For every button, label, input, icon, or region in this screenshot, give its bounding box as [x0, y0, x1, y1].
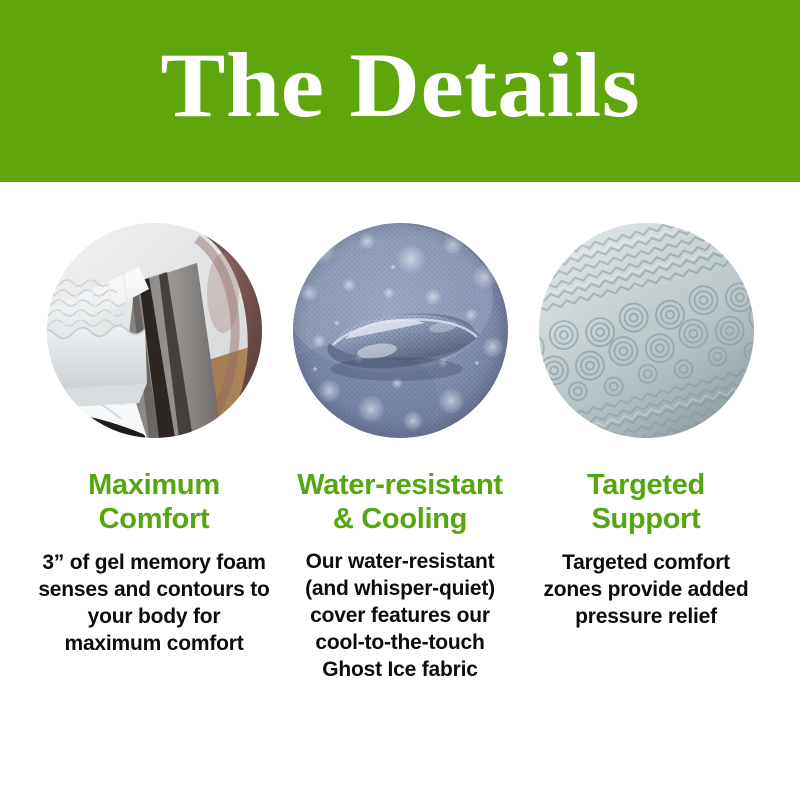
feature-heading-line-2: Support	[591, 503, 700, 535]
feature-heading: Maximum Comfort	[88, 469, 220, 536]
feature-body-text: Targeted comfort zones provide added pre…	[530, 550, 762, 631]
page-title: The Details	[160, 39, 640, 131]
feature-heading-line-2: Comfort	[99, 503, 210, 535]
page-header-banner: The Details	[0, 0, 800, 182]
feature-heading: Water-resistant & Cooling	[297, 469, 503, 536]
feature-heading-line-1: Maximum	[88, 469, 220, 501]
feature-body-text: 3” of gel memory foam senses and contour…	[38, 550, 270, 658]
feature-heading-line-1: Targeted	[587, 469, 705, 501]
feature-heading: Targeted Support	[587, 469, 705, 536]
zoned-support-foam-photo	[539, 223, 754, 438]
water-droplet-on-cooling-fabric-photo	[293, 223, 508, 438]
feature-heading-line-1: Water-resistant	[297, 469, 503, 501]
feature-body-text: Our water-resistant (and whisper-quiet) …	[284, 549, 516, 683]
feature-heading-line-2: & Cooling	[333, 503, 467, 535]
feature-column-water-resistant-cooling: Water-resistant & Cooling Our water-resi…	[284, 223, 516, 684]
feature-column-maximum-comfort: Maximum Comfort 3” of gel memory foam se…	[38, 223, 270, 684]
feature-column-targeted-support: Targeted Support Targeted comfort zones …	[530, 223, 762, 684]
feature-columns: Maximum Comfort 3” of gel memory foam se…	[0, 182, 800, 684]
gel-memory-foam-mattress-layers-photo	[47, 223, 262, 438]
